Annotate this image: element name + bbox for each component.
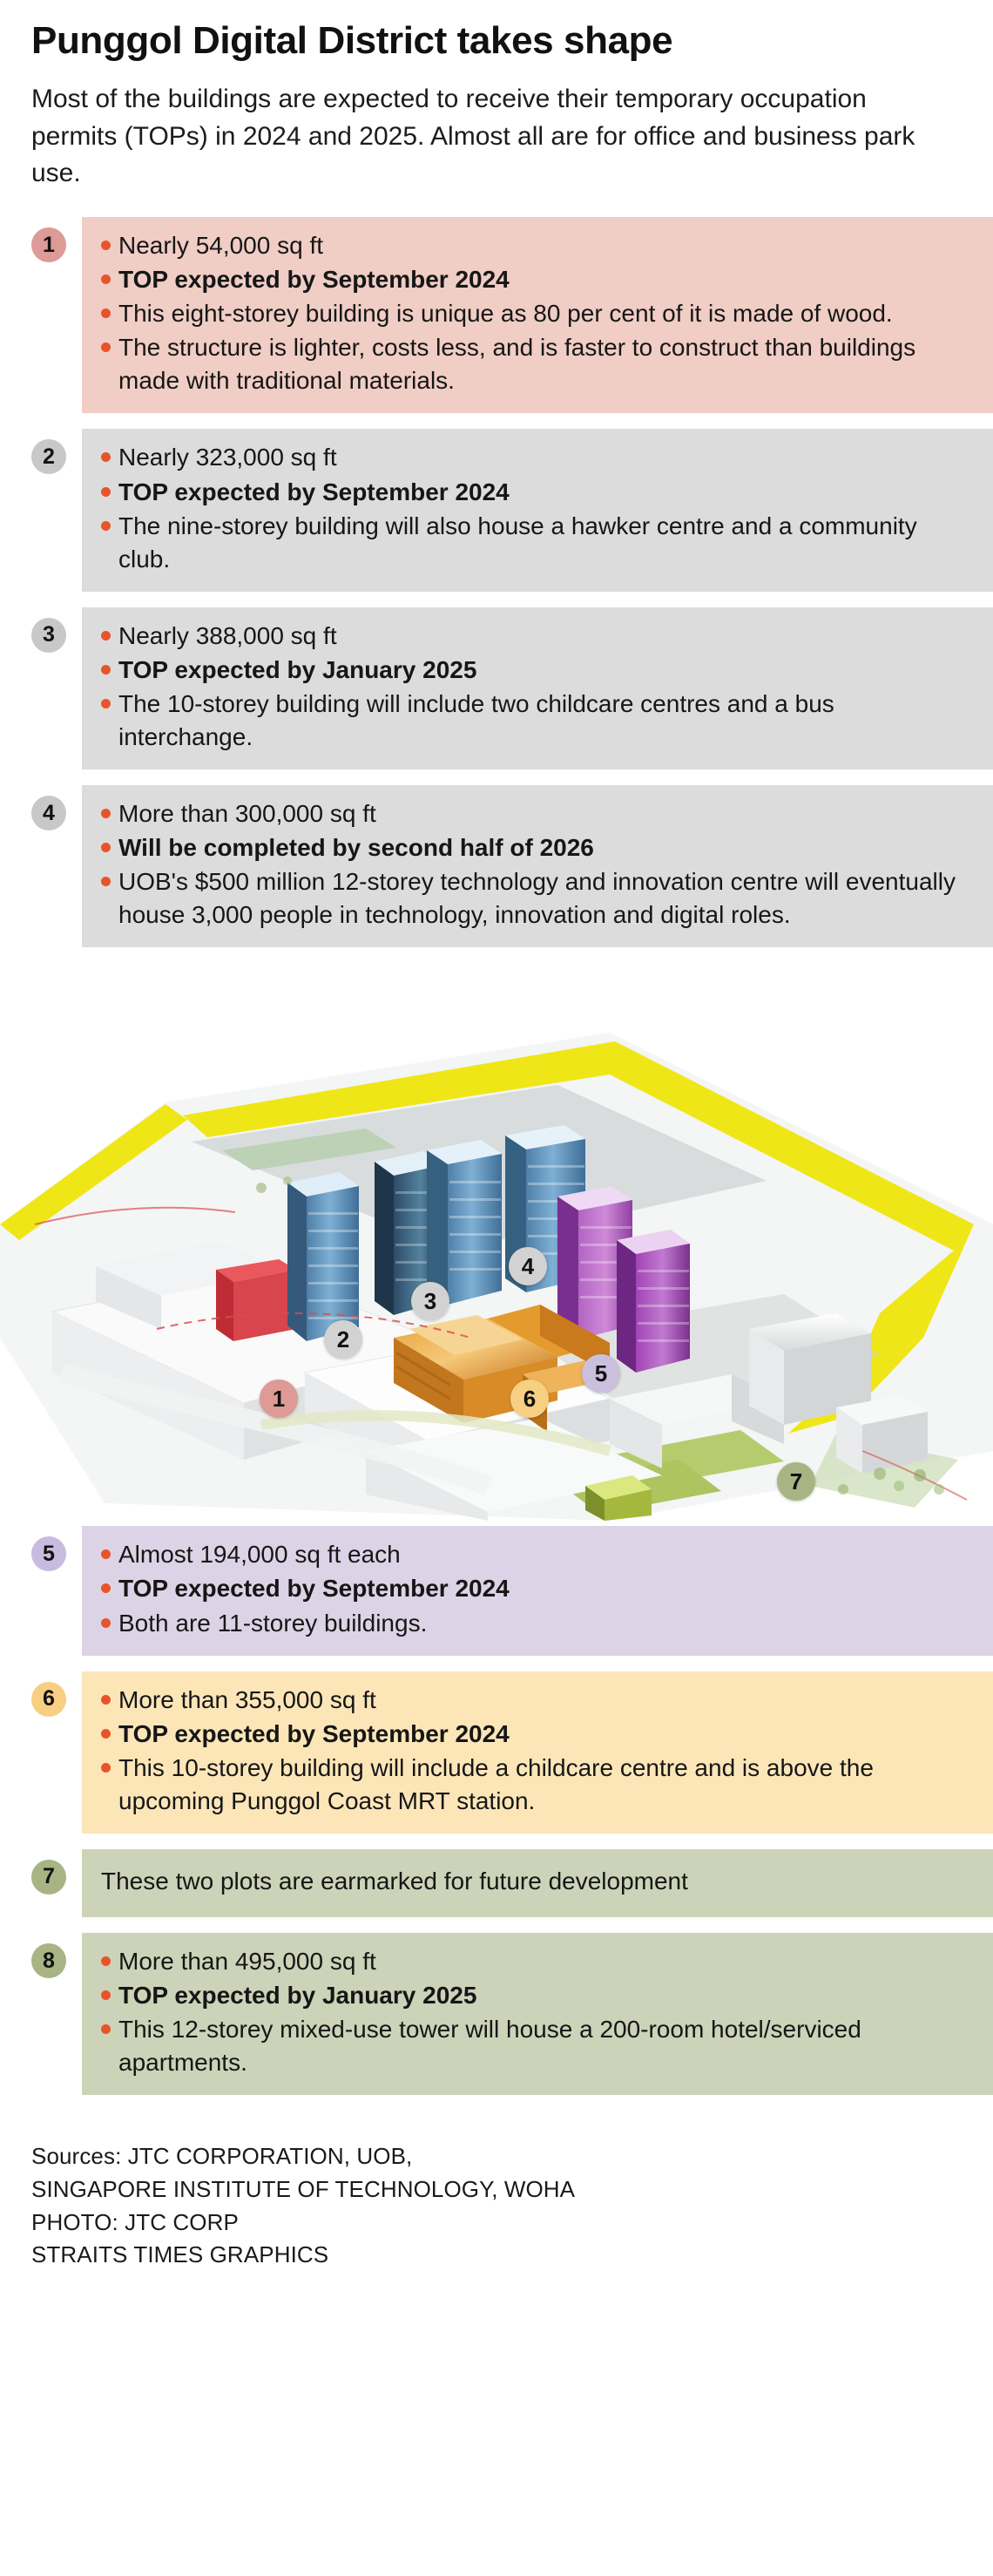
- callout-bullet: More than 300,000 sq ft: [101, 797, 974, 830]
- source-line: SINGAPORE INSTITUTE OF TECHNOLOGY, WOHA: [31, 2173, 962, 2207]
- bullet-dot-icon: [101, 2024, 111, 2034]
- callout-badge-8: 8: [31, 1943, 66, 1978]
- callout-bullet: Will be completed by second half of 2026: [101, 831, 974, 864]
- callout-bullet-text: The nine-storey building will also house…: [118, 510, 974, 576]
- bullet-dot-icon: [101, 308, 111, 318]
- district-map: 12345678: [0, 963, 993, 1521]
- callout-bullet: TOP expected by January 2025: [101, 1979, 974, 2012]
- callout-box-2: Nearly 323,000 sq ftTOP expected by Sept…: [82, 429, 993, 591]
- header: Punggol Digital District takes shape Mos…: [0, 0, 993, 193]
- callout-bullet: TOP expected by September 2024: [101, 476, 974, 509]
- callout-bullet: Nearly 54,000 sq ft: [101, 229, 974, 262]
- callout-bullet-text: Almost 194,000 sq ft each: [118, 1538, 974, 1571]
- callout-row-2: 2Nearly 323,000 sq ftTOP expected by Sep…: [0, 429, 993, 591]
- sources-block: Sources: JTC CORPORATION, UOB,SINGAPORE …: [0, 2111, 993, 2298]
- callout-bullet-text: Nearly 388,000 sq ft: [118, 620, 974, 653]
- callout-bullet-text: Will be completed by second half of 2026: [118, 831, 974, 864]
- callout-bullet: UOB's $500 million 12-storey technology …: [101, 865, 974, 932]
- callout-bullet-text: TOP expected by September 2024: [118, 1572, 974, 1605]
- map-bldg5b-face: [636, 1244, 690, 1373]
- bullet-dot-icon: [101, 241, 111, 250]
- callout-bullet: TOP expected by September 2024: [101, 1718, 974, 1751]
- bullet-dot-icon: [101, 342, 111, 352]
- map-bldg3-face: [448, 1154, 502, 1305]
- callout-bullet: TOP expected by September 2024: [101, 263, 974, 296]
- bullet-dot-icon: [101, 1549, 111, 1559]
- callout-box-1: Nearly 54,000 sq ftTOP expected by Septe…: [82, 217, 993, 413]
- intro-paragraph: Most of the buildings are expected to re…: [31, 81, 959, 193]
- callout-bullet-text: This 12-storey mixed-use tower will hous…: [118, 2013, 974, 2079]
- callout-bullet: This eight-storey building is unique as …: [101, 297, 974, 330]
- source-line: PHOTO: JTC CORP: [31, 2207, 962, 2240]
- callout-bullet-text: TOP expected by January 2025: [118, 1979, 974, 2012]
- callout-row-1: 1Nearly 54,000 sq ftTOP expected by Sept…: [0, 217, 993, 413]
- bullet-dot-icon: [101, 1695, 111, 1705]
- callout-row-6: 6More than 355,000 sq ftTOP expected by …: [0, 1671, 993, 1834]
- callout-box-7: These two plots are earmarked for future…: [82, 1849, 993, 1917]
- callout-badge-2: 2: [31, 439, 66, 474]
- callout-box-4: More than 300,000 sq ftWill be completed…: [82, 785, 993, 947]
- callout-row-4: 4More than 300,000 sq ftWill be complete…: [0, 785, 993, 947]
- bullet-dot-icon: [101, 877, 111, 886]
- callout-bullet: This 12-storey mixed-use tower will hous…: [101, 2013, 974, 2079]
- callout-bullet-text: Both are 11-storey buildings.: [118, 1607, 974, 1640]
- callout-bullet-text: TOP expected by January 2025: [118, 654, 974, 687]
- callout-badge-1: 1: [31, 227, 66, 262]
- callout-row-3: 3Nearly 388,000 sq ftTOP expected by Jan…: [0, 607, 993, 769]
- callout-bullet-text: Nearly 323,000 sq ft: [118, 441, 974, 474]
- bullet-dot-icon: [101, 631, 111, 641]
- map-marker-7[interactable]: 7: [777, 1462, 815, 1501]
- callout-bullet-text: TOP expected by September 2024: [118, 263, 974, 296]
- callout-badge-5: 5: [31, 1536, 66, 1571]
- map-marker-3[interactable]: 3: [411, 1282, 449, 1320]
- map-marker-4[interactable]: 4: [509, 1247, 547, 1285]
- map-bldg2-left: [287, 1183, 307, 1341]
- map-marker-2[interactable]: 2: [324, 1320, 362, 1359]
- callout-row-8: 8More than 495,000 sq ftTOP expected by …: [0, 1933, 993, 2095]
- callout-bullet: TOP expected by January 2025: [101, 654, 974, 687]
- callout-badge-3: 3: [31, 618, 66, 653]
- callout-bullet: Nearly 388,000 sq ft: [101, 620, 974, 653]
- bullet-dot-icon: [101, 1990, 111, 2000]
- callout-bullet: The 10-storey building will include two …: [101, 688, 974, 754]
- bullet-dot-icon: [101, 1583, 111, 1593]
- callout-bullet-text: This eight-storey building is unique as …: [118, 297, 974, 330]
- bullet-dot-icon: [101, 452, 111, 462]
- source-line: STRAITS TIMES GRAPHICS: [31, 2239, 962, 2272]
- callout-bullet: The structure is lighter, costs less, an…: [101, 331, 974, 397]
- map-marker-5[interactable]: 5: [582, 1354, 620, 1393]
- callout-bullet: More than 495,000 sq ft: [101, 1945, 974, 1978]
- bullet-dot-icon: [101, 699, 111, 708]
- callout-bullet: More than 355,000 sq ft: [101, 1684, 974, 1717]
- callout-bullet: This 10-storey building will include a c…: [101, 1752, 974, 1818]
- callout-bullet-text: This 10-storey building will include a c…: [118, 1752, 974, 1818]
- callout-bullet-text: Nearly 54,000 sq ft: [118, 229, 974, 262]
- callout-bullet: Both are 11-storey buildings.: [101, 1607, 974, 1640]
- bullet-dot-icon: [101, 843, 111, 852]
- callout-bullet-text: More than 495,000 sq ft: [118, 1945, 974, 1978]
- callout-box-8: More than 495,000 sq ftTOP expected by J…: [82, 1933, 993, 2095]
- callout-box-5: Almost 194,000 sq ft eachTOP expected by…: [82, 1526, 993, 1655]
- callout-bullet-text: UOB's $500 million 12-storey technology …: [118, 865, 974, 932]
- callout-badge-7: 7: [31, 1860, 66, 1895]
- page-title: Punggol Digital District takes shape: [31, 19, 962, 62]
- map-bldg5b-left: [617, 1240, 636, 1373]
- callout-bullet: Almost 194,000 sq ft each: [101, 1538, 974, 1571]
- bullet-dot-icon: [101, 521, 111, 531]
- map-marker-1[interactable]: 1: [260, 1380, 298, 1418]
- callout-box-6: More than 355,000 sq ftTOP expected by S…: [82, 1671, 993, 1834]
- callout-bullet-text: More than 300,000 sq ft: [118, 797, 974, 830]
- callout-bullet-text: TOP expected by September 2024: [118, 476, 974, 509]
- bullet-dot-icon: [101, 665, 111, 675]
- map-illustration: [0, 963, 993, 1521]
- map-bldg1-face: [233, 1270, 296, 1341]
- bullet-dot-icon: [101, 809, 111, 818]
- bullet-dot-icon: [101, 1956, 111, 1966]
- bullet-dot-icon: [101, 1763, 111, 1773]
- bullet-dot-icon: [101, 487, 111, 497]
- map-marker-6[interactable]: 6: [510, 1380, 549, 1418]
- callout-box-3: Nearly 388,000 sq ftTOP expected by Janu…: [82, 607, 993, 769]
- callout-bullet-text: The 10-storey building will include two …: [118, 688, 974, 754]
- callout-bullet: TOP expected by September 2024: [101, 1572, 974, 1605]
- bullet-dot-icon: [101, 1618, 111, 1628]
- callouts-top-group: 1Nearly 54,000 sq ftTOP expected by Sept…: [0, 217, 993, 947]
- callout-row-7: 7These two plots are earmarked for futur…: [0, 1849, 993, 1917]
- bullet-dot-icon: [101, 1729, 111, 1739]
- map-bldg3a-left: [375, 1162, 394, 1315]
- callout-badge-4: 4: [31, 796, 66, 830]
- callout-row-5: 5Almost 194,000 sq ft eachTOP expected b…: [0, 1526, 993, 1655]
- callout-bullet: Nearly 323,000 sq ft: [101, 441, 974, 474]
- callout-bullet-text: More than 355,000 sq ft: [118, 1684, 974, 1717]
- bullet-dot-icon: [101, 275, 111, 284]
- infographic-page: Punggol Digital District takes shape Mos…: [0, 0, 993, 2576]
- callout-badge-6: 6: [31, 1682, 66, 1717]
- map-bldg1-shade: [216, 1270, 233, 1341]
- callout-plain-text: These two plots are earmarked for future…: [101, 1861, 974, 1901]
- callouts-bottom-group: 5Almost 194,000 sq ft eachTOP expected b…: [0, 1526, 993, 2095]
- callout-bullet-text: TOP expected by September 2024: [118, 1718, 974, 1751]
- callout-bullet-text: The structure is lighter, costs less, an…: [118, 331, 974, 397]
- source-line: Sources: JTC CORPORATION, UOB,: [31, 2140, 962, 2173]
- callout-bullet: The nine-storey building will also house…: [101, 510, 974, 576]
